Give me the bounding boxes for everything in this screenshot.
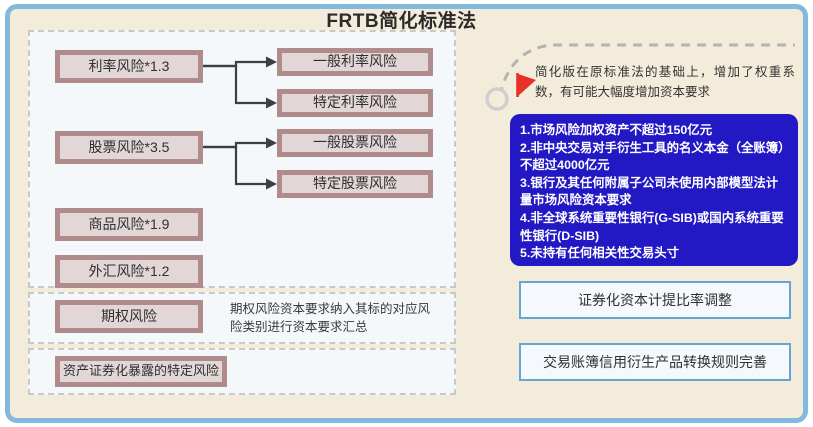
sub-risk-box-label: 一般股票风险 xyxy=(313,135,397,150)
risk-box-fx[interactable]: 外汇风险*1.2 xyxy=(55,255,203,288)
condition-item: 2.非中央交易对手衍生工具的名义本金（全账簿）不超过4000亿元 xyxy=(520,140,788,175)
sub-risk-box-general-interest-rate[interactable]: 一般利率风险 xyxy=(277,48,433,76)
condition-item: 4.非全球系统重要性银行(G-SIB)或国内系统重要性银行(D-SIB) xyxy=(520,210,788,245)
risk-box-label: 外汇风险*1.2 xyxy=(89,264,170,279)
condition-item: 1.市场风险加权资产不超过150亿元 xyxy=(520,122,788,140)
option-risk-note: 期权风险资本要求纳入其标的对应风险类别进行资本要求汇总 xyxy=(230,300,440,336)
risk-box-label: 期权风险 xyxy=(101,309,157,324)
sub-risk-box-specific-interest-rate[interactable]: 特定利率风险 xyxy=(277,89,433,117)
condition-item: 3.银行及其任何附属子公司未使用内部模型法计量市场风险资本要求 xyxy=(520,175,788,210)
risk-box-option[interactable]: 期权风险 xyxy=(55,300,203,333)
risk-box-label: 股票风险*3.5 xyxy=(89,140,170,155)
box-label: 交易账簿信用衍生产品转换规则完善 xyxy=(543,352,767,372)
diagram-root: FRTB简化标准法 利率风险*1.3 股票风险*3.5 商品风险*1.9 外汇风… xyxy=(0,0,813,427)
risk-box-interest-rate[interactable]: 利率风险*1.3 xyxy=(55,50,203,83)
sub-risk-box-label: 特定股票风险 xyxy=(313,176,397,191)
risk-box-label: 商品风险*1.9 xyxy=(89,217,170,232)
sub-risk-box-general-equity[interactable]: 一般股票风险 xyxy=(277,129,433,157)
box-label: 证券化资本计提比率调整 xyxy=(578,290,732,310)
risk-box-equity[interactable]: 股票风险*3.5 xyxy=(55,131,203,164)
page-title: FRTB简化标准法 xyxy=(0,6,803,33)
risk-box-label: 利率风险*1.3 xyxy=(89,59,170,74)
conditions-box: 1.市场风险加权资产不超过150亿元 2.非中央交易对手衍生工具的名义本金（全账… xyxy=(510,114,798,266)
risk-box-commodity[interactable]: 商品风险*1.9 xyxy=(55,208,203,241)
risk-box-securitization[interactable]: 资产证券化暴露的特定风险 xyxy=(55,356,227,387)
callout-text: 简化版在原标准法的基础上，增加了权重系数，有可能大幅度增加资本要求 xyxy=(535,62,795,102)
sub-risk-box-label: 一般利率风险 xyxy=(313,54,397,69)
sub-risk-box-specific-equity[interactable]: 特定股票风险 xyxy=(277,170,433,198)
condition-item: 5.未持有任何相关性交易头寸 xyxy=(520,245,788,263)
box-securitization-capital-ratio[interactable]: 证券化资本计提比率调整 xyxy=(519,281,791,319)
risk-box-label: 资产证券化暴露的特定风险 xyxy=(63,364,219,378)
sub-risk-box-label: 特定利率风险 xyxy=(313,95,397,110)
box-credit-derivative-conversion[interactable]: 交易账簿信用衍生产品转换规则完善 xyxy=(519,343,791,381)
